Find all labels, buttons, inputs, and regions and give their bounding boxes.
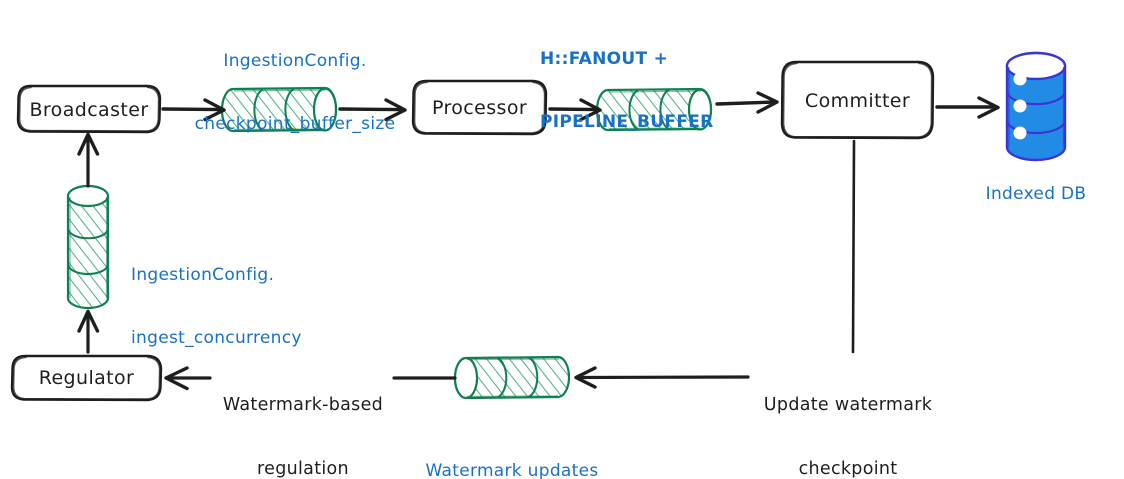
diagram-canvas: Broadcaster Processor Committer Regulato… [0, 0, 1124, 479]
edge-committer-to-indexed-db [937, 98, 998, 117]
db-indicator-dot [1014, 127, 1027, 140]
buffer-watermark-buffer[interactable] [455, 357, 569, 398]
node-regulator[interactable] [12, 356, 161, 400]
edge-committer-to-watermark-checkpoint [853, 141, 854, 352]
node-indexed-db[interactable] [1007, 53, 1065, 160]
edge-pipeline-buffer-to-committer [717, 93, 777, 112]
edge-regulator-to-concurrency-buffer [79, 312, 98, 353]
db-indicator-dot [1014, 100, 1027, 113]
edge-regulation-to-regulator [166, 368, 210, 389]
buffer-pipeline-buffer[interactable] [597, 89, 711, 130]
edge-processor-to-pipeline-buffer [550, 100, 600, 120]
db-indicator-dot [1014, 73, 1027, 86]
edge-concurrency-buffer-to-broadcaster [79, 135, 98, 187]
node-broadcaster[interactable] [18, 86, 160, 132]
diagram-vector-layer [0, 0, 1124, 479]
edge-watermark-checkpoint-to-buffer [576, 368, 748, 387]
edge-checkpoint-buffer-to-processor [340, 100, 405, 120]
node-processor[interactable] [413, 81, 546, 134]
buffer-concurrency-buffer[interactable] [68, 186, 108, 308]
buffer-checkpoint-buffer[interactable] [222, 88, 336, 131]
node-committer[interactable] [782, 62, 933, 138]
edge-broadcaster-to-checkpoint-buffer [163, 100, 224, 120]
